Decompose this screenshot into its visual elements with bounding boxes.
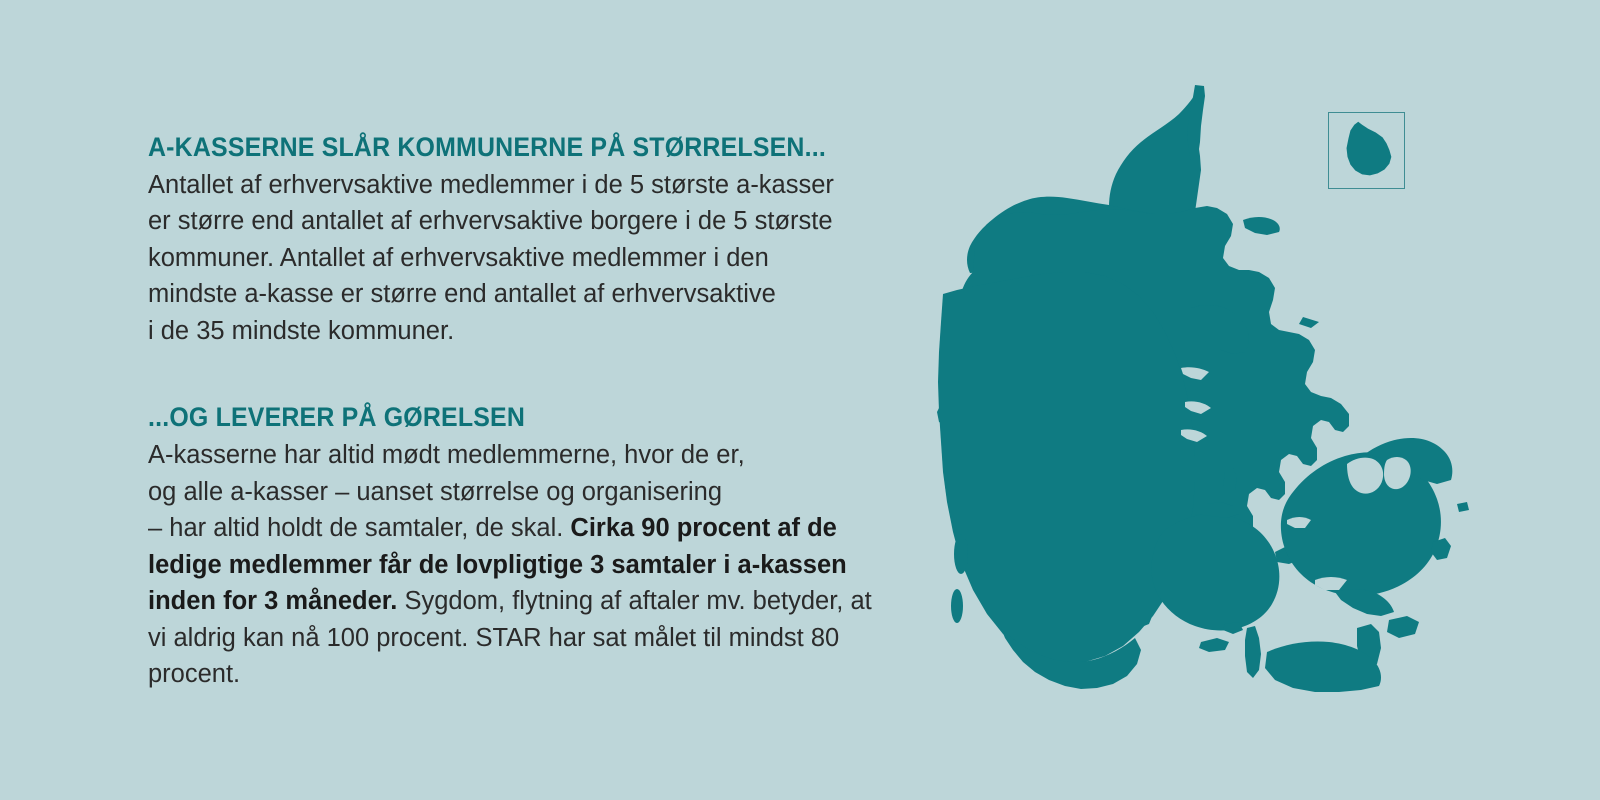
text-column: A-KASSERNE SLÅR KOMMUNERNE PÅ STØRRELSEN…	[148, 134, 888, 693]
body-line: er større end antallet af erhvervsaktive…	[148, 207, 833, 235]
body-line: A-kasserne har altid mødt medlemmerne, h…	[148, 441, 745, 469]
section-gap	[148, 349, 888, 404]
body-line: mindste a-kasse er større end antallet a…	[148, 280, 776, 308]
island-romo	[951, 589, 963, 623]
body-line: og alle a-kasser – uanset størrelse og o…	[148, 478, 722, 506]
section-heading-1: A-KASSERNE SLÅR KOMMUNERNE PÅ STØRRELSEN…	[148, 134, 844, 162]
section-body-2: A-kasserne har altid mødt medlemmerne, h…	[148, 437, 888, 693]
island-fano	[954, 534, 968, 574]
bornholm-inset-svg	[1329, 113, 1404, 188]
infographic-canvas: A-KASSERNE SLÅR KOMMUNERNE PÅ STØRRELSEN…	[0, 0, 1600, 800]
section-heading-2: ...OG LEVERER PÅ GØRELSEN	[148, 404, 844, 432]
body-line: i de 35 mindste kommuner.	[148, 317, 454, 345]
island-bornholm	[1347, 122, 1392, 176]
section-body-1: Antallet af erhvervsaktive medlemmer i d…	[148, 167, 888, 350]
section-og-leverer: ...OG LEVERER PÅ GØRELSEN A-kasserne har…	[148, 404, 888, 692]
body-line: kommuner. Antallet af erhvervsaktive med…	[148, 244, 769, 272]
body-line: Antallet af erhvervsaktive medlemmer i d…	[148, 171, 834, 199]
section-a-kasserne-stoerrelsen: A-KASSERNE SLÅR KOMMUNERNE PÅ STØRRELSEN…	[148, 134, 888, 349]
bornholm-inset	[1328, 112, 1405, 189]
body-segment: – har altid holdt de samtaler, de skal.	[148, 514, 570, 542]
